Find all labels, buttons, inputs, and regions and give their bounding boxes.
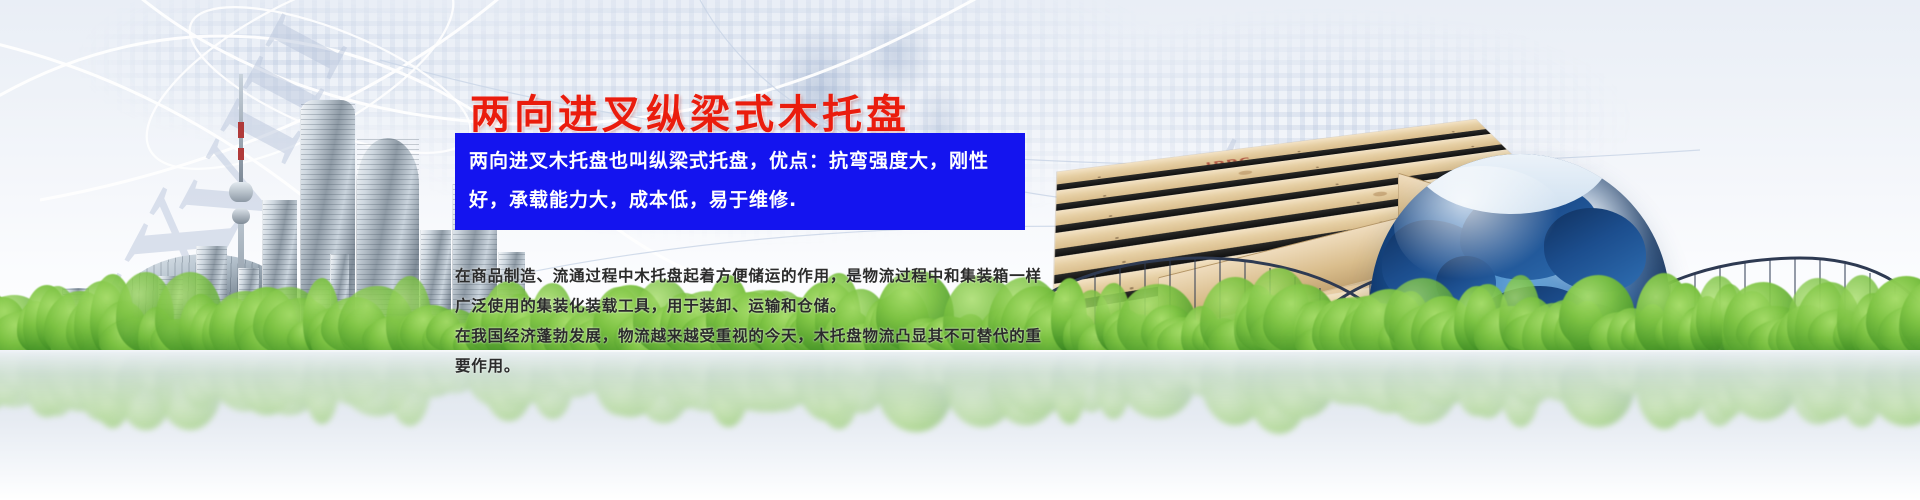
page-title: 两向进叉纵梁式木托盘 <box>470 82 910 140</box>
body-paragraph-2: 在我国经济蓬勃发展，物流越来越受重视的今天，木托盘物流凸显其不可替代的重要作用。 <box>455 321 1045 381</box>
promo-banner: VIII IX X VII XI IPPC <box>0 0 1920 500</box>
highlight-callout: 两向进叉木托盘也叫纵梁式托盘，优点：抗弯强度大，刚性好，承载能力大，成本低，易于… <box>455 133 1025 230</box>
body-paragraph-1: 在商品制造、流通过程中木托盘起着方便储运的作用，是物流过程中和集装箱一样广泛使用… <box>455 261 1045 321</box>
